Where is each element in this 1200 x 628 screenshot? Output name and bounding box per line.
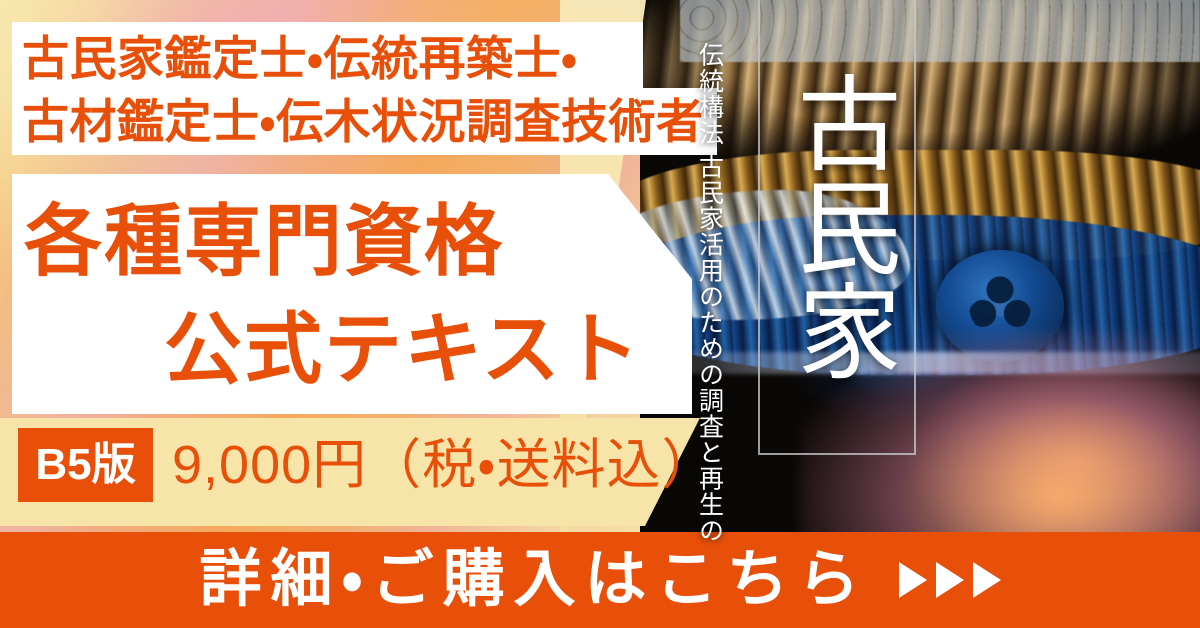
triangle-right-icon bbox=[899, 562, 927, 598]
bead-row-decoration bbox=[680, 0, 1200, 62]
promo-banner[interactable]: 古民家 伝統構法 古民家活用のための調査と再生の 古民家鑑定士・伝統再築士・ 古… bbox=[0, 0, 1200, 628]
book-cover-photo bbox=[640, 0, 1200, 592]
cta-button[interactable]: 詳細・ご購入はこちら bbox=[0, 532, 1200, 628]
subtitle-line-1: 各種専門資格 bbox=[24, 197, 504, 285]
triangle-right-icon bbox=[936, 562, 964, 598]
triangle-right-icon bbox=[973, 562, 1001, 598]
subtitle-line-2: 公式テキスト bbox=[24, 296, 674, 404]
subtitle-block: 各種専門資格 公式テキスト bbox=[24, 188, 674, 403]
page-title: 古民家鑑定士・伝統再築士・ 古材鑑定士・伝木状況調査技術者 bbox=[22, 28, 722, 153]
cover-title-text: 古民家 bbox=[760, 6, 912, 446]
price-text: 9,000円（税・送料込） bbox=[172, 428, 717, 502]
cta-arrow-group bbox=[899, 562, 1001, 598]
format-badge: B5版 bbox=[18, 428, 153, 502]
cover-subtitle-text: 伝統構法 古民家活用のための調査と再生の bbox=[694, 42, 723, 602]
cta-label: 詳細・ご購入はこちら bbox=[199, 549, 868, 611]
